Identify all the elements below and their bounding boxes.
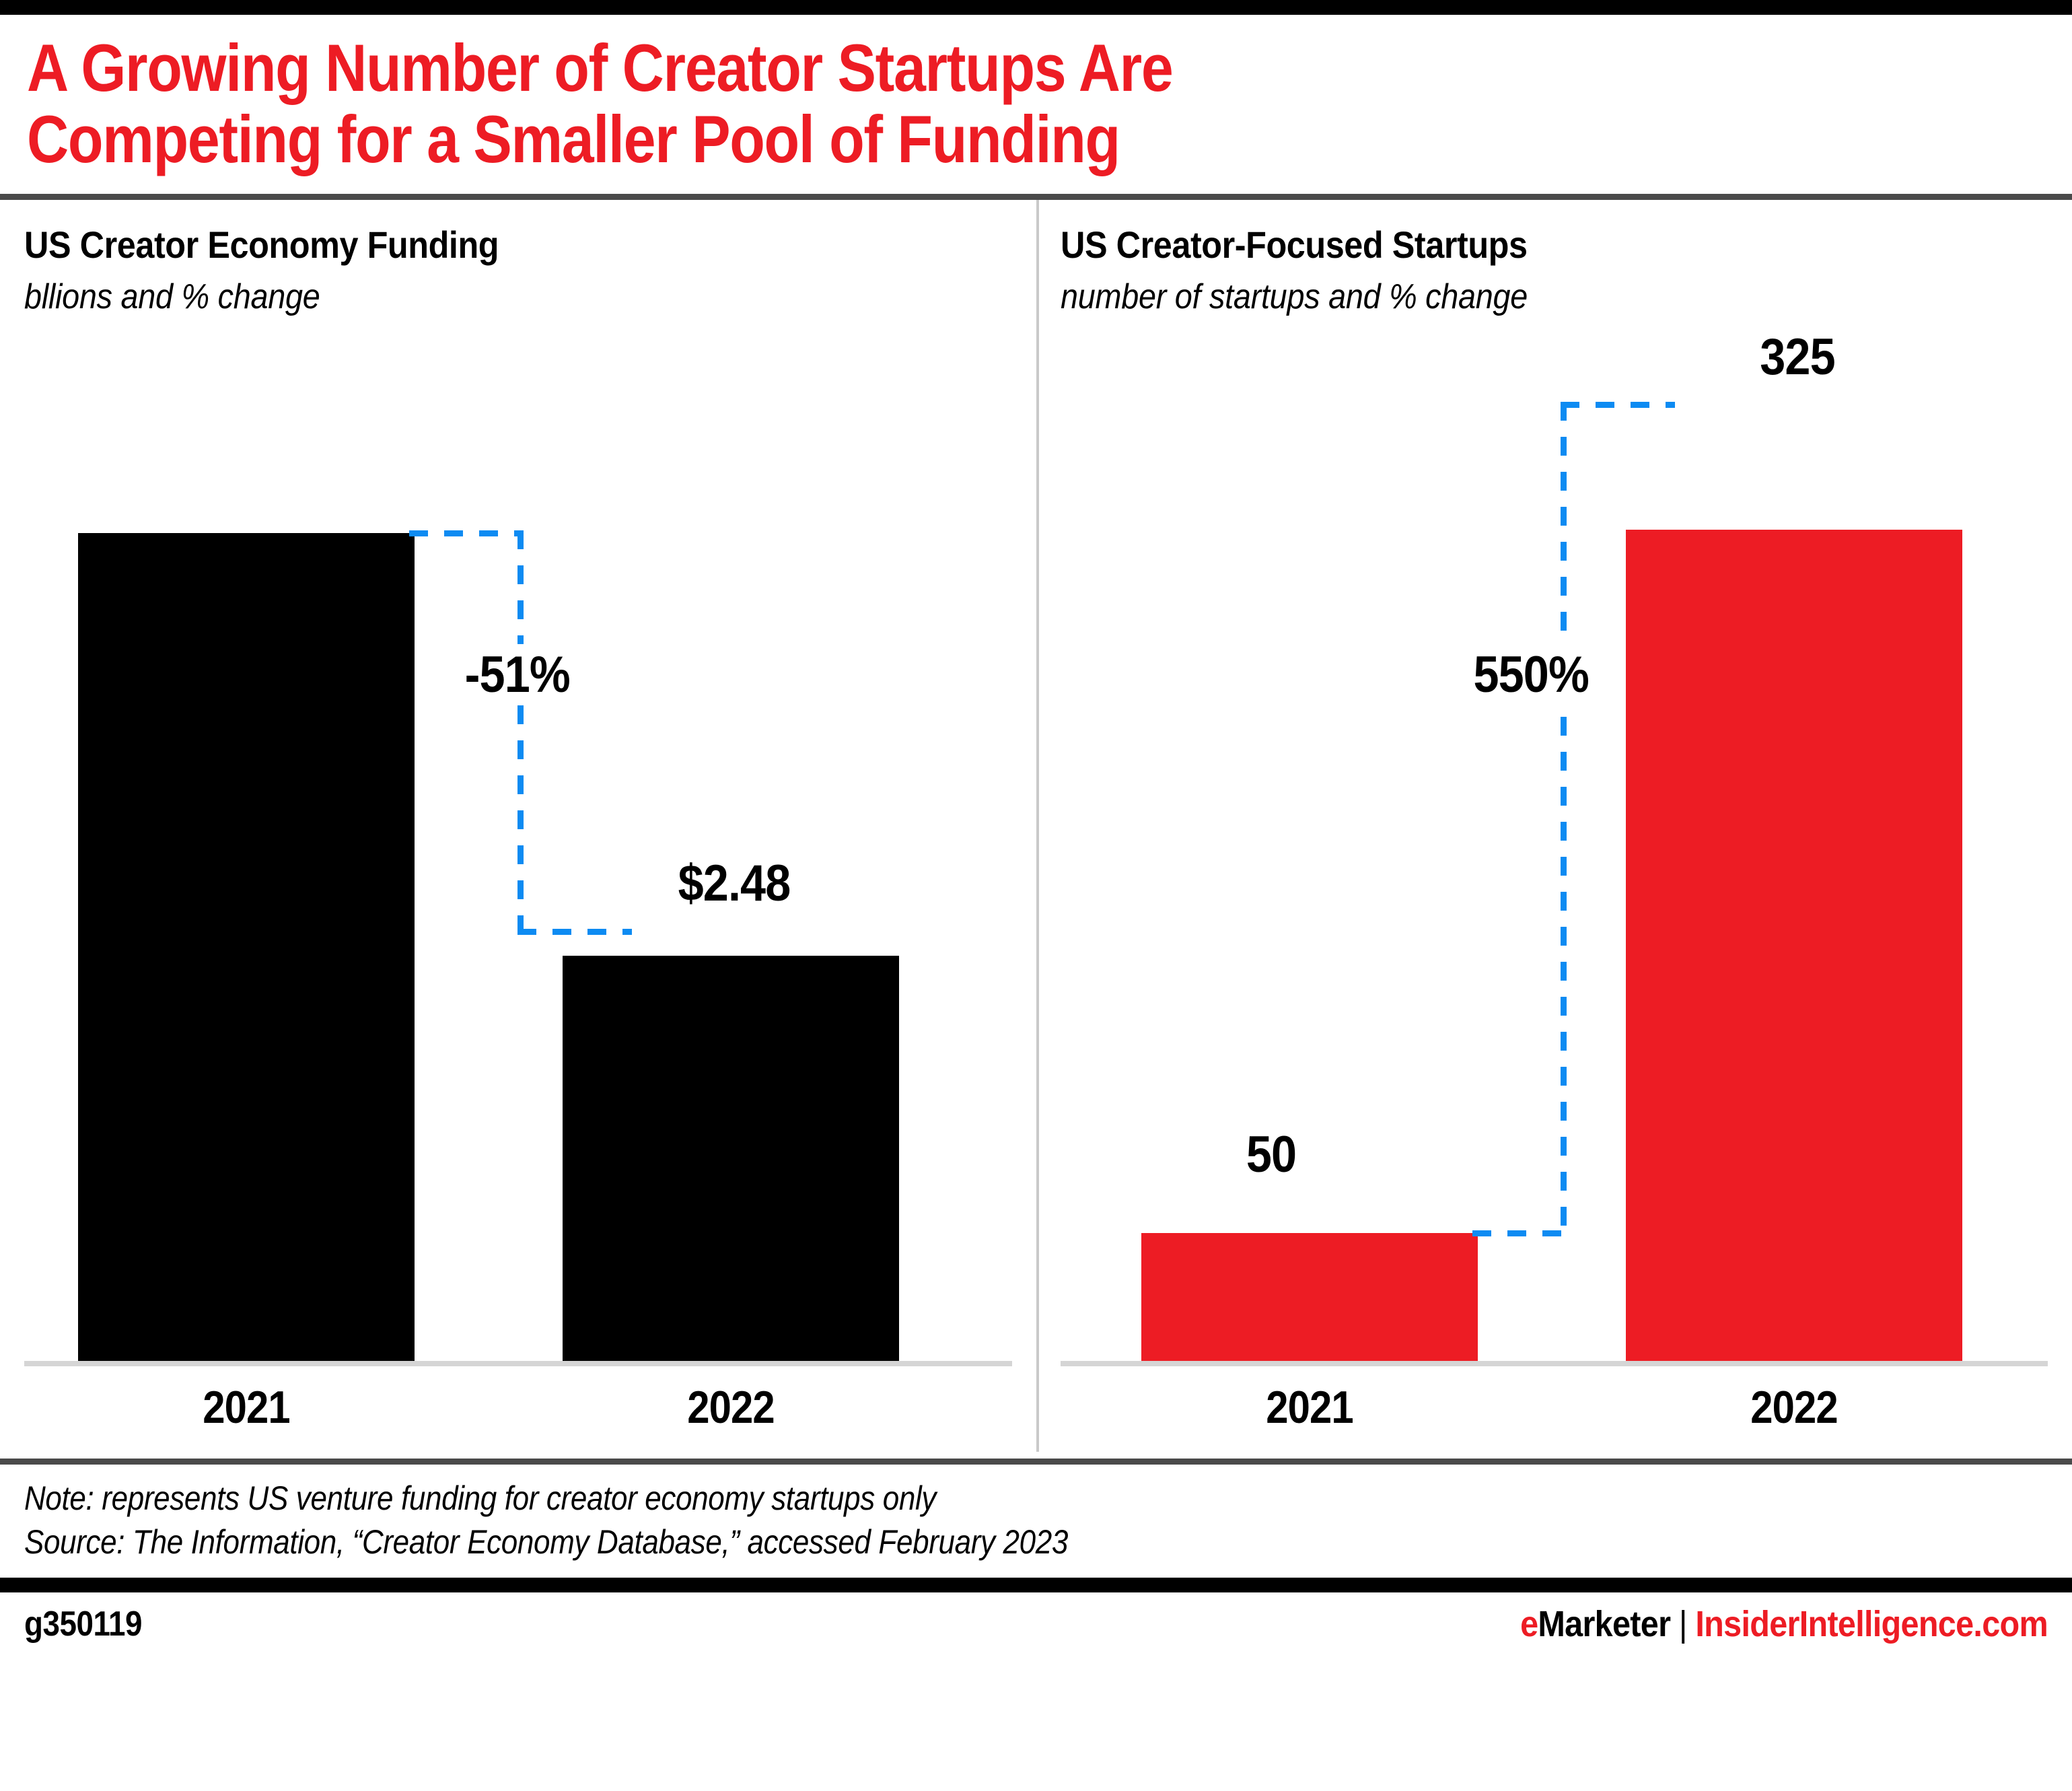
- plot-left: $5.07 -51% $2.48 2021 2022: [24, 402, 1012, 1459]
- panel-right-startups: US Creator-Focused Startups number of st…: [1036, 200, 2072, 1459]
- change-label-left: -51%: [459, 644, 576, 705]
- axis-line-right: [1061, 1361, 2048, 1366]
- source-text: Source: The Information, “Creator Econom…: [24, 1520, 1805, 1564]
- connector-left-bottom: [517, 929, 632, 935]
- panel-right-header: US Creator-Focused Startups number of st…: [1061, 200, 2048, 318]
- panel-left-subtitle: bllions and % change: [24, 277, 913, 318]
- axis-line-left: [24, 1361, 1012, 1366]
- bar-label-right-2021: 50: [1116, 1125, 1425, 1184]
- title-line-2: Competing for a Smaller Pool of Funding: [27, 104, 1783, 175]
- chart-id: g350119: [24, 1604, 142, 1644]
- brand-marketer: Marketer: [1538, 1604, 1670, 1644]
- bar-left-2021: [78, 533, 415, 1361]
- panel-left-title: US Creator Economy Funding: [24, 224, 913, 267]
- tick-left-2021: 2021: [98, 1381, 394, 1434]
- footer-notes: Note: represents US venture funding for …: [0, 1465, 2072, 1574]
- connector-right-bottom: [1472, 1230, 1567, 1236]
- footer-rule: [0, 1578, 2072, 1592]
- plot-area-right: 50 550% 325: [1061, 402, 2048, 1361]
- panel-left-header: US Creator Economy Funding bllions and %…: [24, 200, 1012, 318]
- bar-label-left-2022: $2.48: [580, 854, 889, 913]
- connector-right-top: [1561, 402, 1675, 408]
- panel-right-title: US Creator-Focused Startups: [1061, 224, 1950, 267]
- brand-url[interactable]: InsiderIntelligence.com: [1695, 1604, 2048, 1644]
- connector-right-vertical: [1561, 402, 1567, 1236]
- change-label-right: 550%: [1467, 644, 1594, 705]
- tick-row-left: 2021 2022: [24, 1381, 1012, 1462]
- tick-left-2022: 2022: [583, 1381, 879, 1434]
- title-line-1: A Growing Number of Creator Startups Are: [27, 32, 1783, 104]
- brand-e: e: [1520, 1604, 1538, 1644]
- note-text: Note: represents US venture funding for …: [24, 1477, 1805, 1520]
- brand-logo: eMarketer|InsiderIntelligence.com: [1520, 1603, 2048, 1645]
- panels-container: US Creator Economy Funding bllions and %…: [0, 200, 2072, 1459]
- panel-left-funding: US Creator Economy Funding bllions and %…: [0, 200, 1036, 1459]
- connector-left-vertical: [517, 530, 524, 934]
- brand-bar: g350119 eMarketer|InsiderIntelligence.co…: [0, 1592, 2072, 1645]
- bar-right-2022: [1626, 530, 1962, 1361]
- title-divider: [0, 194, 2072, 200]
- plot-area-left: $5.07 -51% $2.48: [24, 402, 1012, 1361]
- connector-left-top: [409, 530, 524, 536]
- chart-title: A Growing Number of Creator Startups Are…: [0, 15, 2072, 179]
- plot-right: 50 550% 325 2021 2022: [1061, 402, 2048, 1459]
- bar-right-2021: [1141, 1233, 1478, 1361]
- bar-left-2022: [563, 956, 899, 1361]
- bar-label-right-2022: 325: [1643, 328, 1952, 386]
- panel-right-subtitle: number of startups and % change: [1061, 277, 1950, 318]
- top-rule: [0, 0, 2072, 15]
- brand-separator: |: [1670, 1604, 1695, 1644]
- tick-right-2021: 2021: [1162, 1381, 1458, 1434]
- tick-row-right: 2021 2022: [1061, 1381, 2048, 1462]
- tick-right-2022: 2022: [1646, 1381, 1942, 1434]
